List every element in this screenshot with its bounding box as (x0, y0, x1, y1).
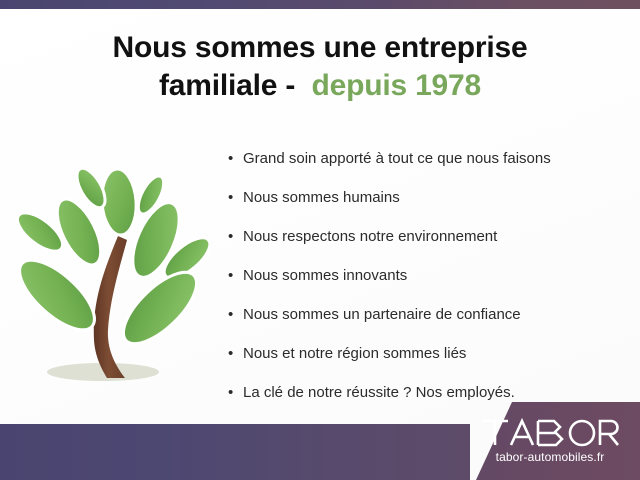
list-item: • Nous respectons notre environnement (228, 227, 628, 247)
tree-illustration (8, 140, 220, 390)
list-item-label: Nous sommes un partenaire de confiance (243, 305, 628, 325)
list-item: • Nous sommes un partenaire de confiance (228, 305, 628, 325)
footer-band-left (0, 424, 470, 480)
brand-logo[interactable]: tabor-automobiles.fr (470, 418, 630, 465)
top-accent-bar (0, 0, 640, 9)
headline-line-2-main: familiale - (159, 69, 295, 102)
benefits-list: • Grand soin apporté à tout ce que nous … (228, 149, 628, 403)
bullet-icon: • (228, 188, 243, 208)
slide-canvas: Nous sommes une entreprise familiale - d… (0, 0, 640, 480)
headline-line-1: Nous sommes une entreprise (113, 31, 528, 64)
list-item-label: Nous sommes innovants (243, 266, 628, 286)
bullet-icon: • (228, 227, 243, 247)
logo-wordmark (470, 418, 630, 448)
list-item: • Grand soin apporté à tout ce que nous … (228, 149, 628, 169)
bullet-icon: • (228, 266, 243, 286)
logo-url[interactable]: tabor-automobiles.fr (470, 450, 630, 465)
list-item: • Nous et notre région sommes liés (228, 344, 628, 364)
list-item: • Nous sommes humains (228, 188, 628, 208)
bullet-icon: • (228, 149, 243, 169)
list-item-label: Nous et notre région sommes liés (243, 344, 628, 364)
list-item: • Nous sommes innovants (228, 266, 628, 286)
headline-line-2-accent: depuis 1978 (311, 69, 481, 102)
page-title: Nous sommes une entreprise familiale - d… (0, 29, 640, 105)
list-item-label: Grand soin apporté à tout ce que nous fa… (243, 149, 628, 169)
bullet-icon: • (228, 344, 243, 364)
bullet-icon: • (228, 305, 243, 325)
list-item-label: Nous sommes humains (243, 188, 628, 208)
list-item-label: Nous respectons notre environnement (243, 227, 628, 247)
leaf (112, 261, 207, 355)
